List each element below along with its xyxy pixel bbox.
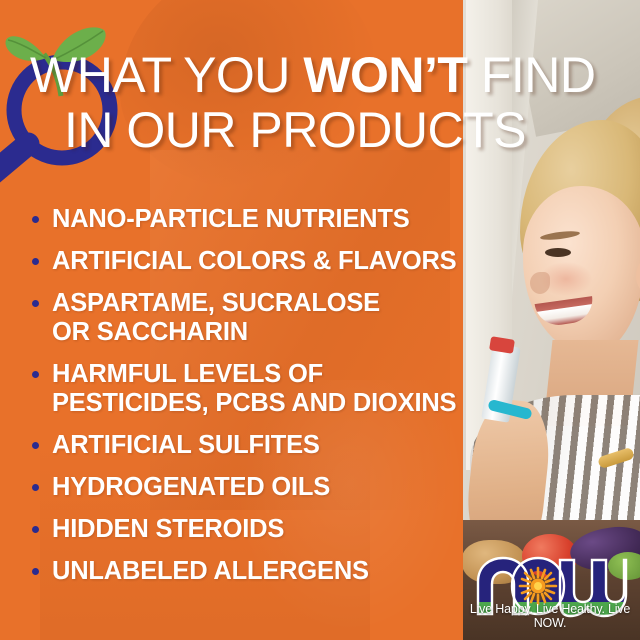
headline-line2: IN OUR PRODUCTS [30, 103, 560, 158]
headline-line1-part1: WHAT YOU [30, 47, 303, 103]
list-item: HIDDEN STEROIDS [30, 515, 460, 544]
list-item: ARTIFICIAL SULFITES [30, 431, 460, 460]
headline-emphasis-wont: WON’T [303, 47, 467, 103]
list-item-line1: HARMFUL LEVELS OF [52, 360, 323, 388]
list-item: ASPARTAME, SUCRALOSE OR SACCHARIN [30, 289, 460, 347]
page-title: WHAT YOU WON’T FIND IN OUR PRODUCTS [30, 48, 630, 158]
list-item: HARMFUL LEVELS OF PESTICIDES, PCBS AND D… [30, 360, 460, 418]
headline-line1: WHAT YOU WON’T FIND [30, 47, 596, 103]
marketing-poster: WHAT YOU WON’T FIND IN OUR PRODUCTS NANO… [0, 0, 640, 640]
excluded-ingredients-list: NANO-PARTICLE NUTRIENTS ARTIFICIAL COLOR… [30, 205, 460, 599]
list-item: NANO-PARTICLE NUTRIENTS [30, 205, 460, 234]
list-item: ARTIFICIAL COLORS & FLAVORS [30, 247, 460, 276]
list-item-line2: PESTICIDES, PCBS AND DIOXINS [52, 389, 460, 418]
list-item-line1: HIDDEN STEROIDS [52, 515, 284, 543]
headline-line1-part2: FIND [467, 47, 595, 103]
list-item-line1: ASPARTAME, SUCRALOSE [52, 289, 380, 317]
photo-woman-eye [545, 248, 571, 257]
list-item: UNLABELED ALLERGENS [30, 557, 460, 586]
list-item: HYDROGENATED OILS [30, 473, 460, 502]
list-item-line1: NANO-PARTICLE NUTRIENTS [52, 205, 410, 233]
list-item-line1: UNLABELED ALLERGENS [52, 557, 369, 585]
list-item-line1: ARTIFICIAL COLORS & FLAVORS [52, 247, 456, 275]
brand-tagline: Live Happy. Live Healthy. Live NOW. [468, 602, 632, 630]
list-item-line1: ARTIFICIAL SULFITES [52, 431, 320, 459]
list-item-line1: HYDROGENATED OILS [52, 473, 330, 501]
sunburst-icon [520, 568, 556, 604]
photo-woman-nose [530, 272, 550, 294]
list-item-line2: OR SACCHARIN [52, 318, 460, 347]
